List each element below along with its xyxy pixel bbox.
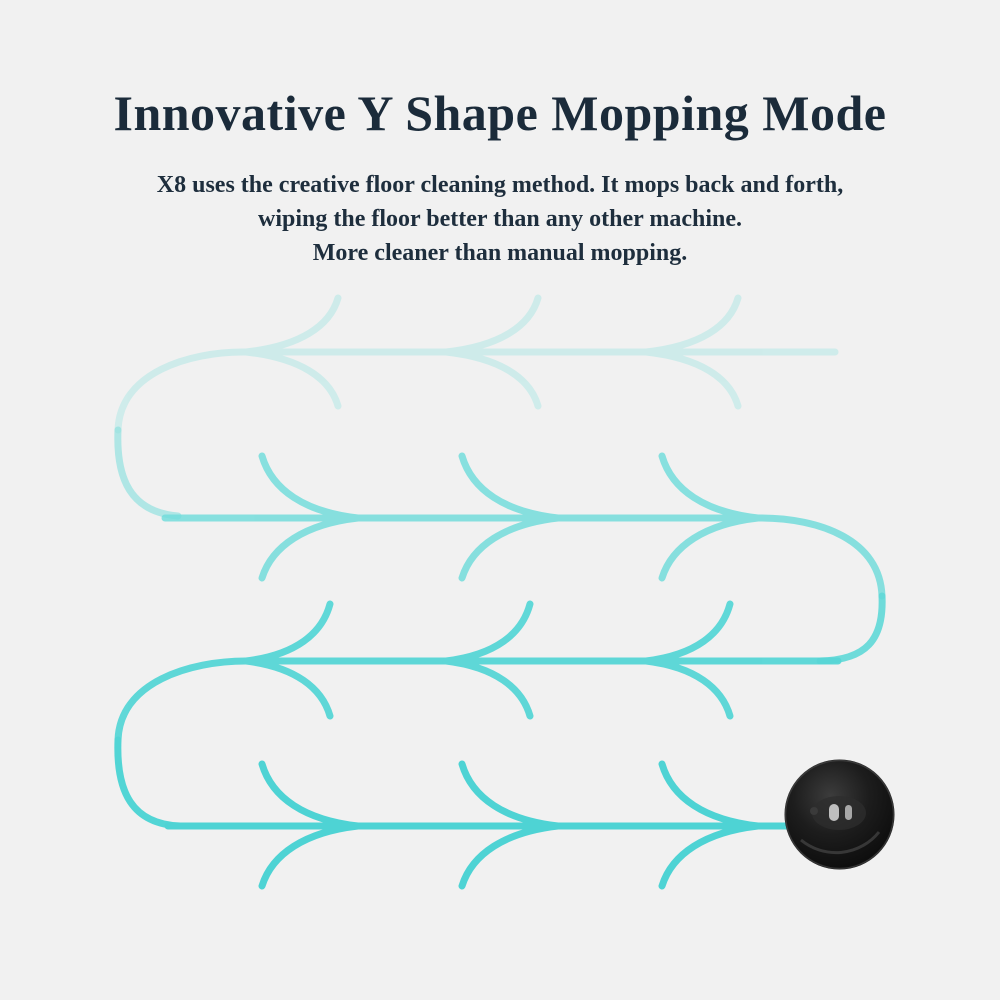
branch-2-2-lower (462, 518, 558, 578)
branch-4-3-upper (662, 764, 758, 826)
branch-2-3-lower (662, 518, 758, 578)
branch-4-1-lower (262, 826, 358, 886)
connector-row1-row2 (118, 430, 178, 516)
branch-3-1-upper (246, 604, 330, 661)
branch-3-3-lower (646, 661, 730, 716)
branch-2-1-lower (262, 518, 358, 578)
branch-3-2-upper (446, 604, 530, 661)
branch-2-3-upper (662, 456, 758, 518)
branch-3-2-lower (446, 661, 530, 716)
branch-1-2-upper (446, 298, 538, 352)
connector-row3-row4 (118, 740, 180, 826)
branch-2-1-upper (262, 456, 358, 518)
path-row-3 (118, 604, 838, 740)
branch-1-2-lower (446, 352, 538, 406)
branch-4-2-lower (462, 826, 558, 886)
path-row-4 (168, 764, 790, 886)
robot-vacuum (783, 758, 896, 871)
branch-1-1-lower (246, 352, 338, 406)
path-row-2 (165, 456, 882, 596)
branch-4-3-lower (662, 826, 758, 886)
path-row-1 (118, 298, 835, 430)
branch-1-3-lower (646, 352, 738, 406)
branch-1-1-upper (246, 298, 338, 352)
branch-3-3-upper (646, 604, 730, 661)
connector-row2-row3 (820, 596, 882, 661)
branch-3-1-lower (246, 661, 330, 716)
branch-1-3-upper (646, 298, 738, 352)
branch-4-2-upper (462, 764, 558, 826)
robot-vacuum-icon (783, 758, 896, 871)
branch-4-1-upper (262, 764, 358, 826)
branch-2-2-upper (462, 456, 558, 518)
promo-page: Innovative Y Shape Mopping Mode X8 uses … (0, 0, 1000, 1000)
